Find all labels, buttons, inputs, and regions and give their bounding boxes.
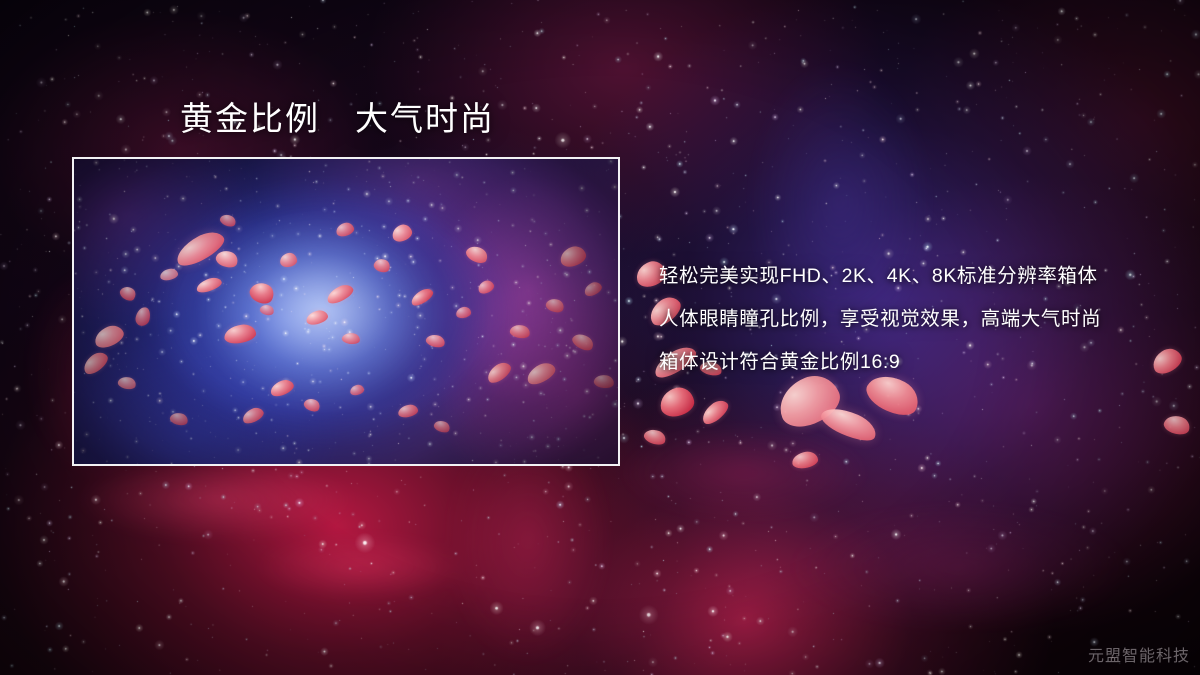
- page-title: 黄金比例 大气时尚: [180, 101, 495, 138]
- presentation-slide: 黄金比例 大气时尚 轻松完美实现FHD、2K、4K、8K标准分辨率箱体 人体眼睛…: [0, 0, 1200, 675]
- description-line-3: 箱体设计符合黄金比例16:9: [659, 341, 1179, 384]
- photo-image: [74, 159, 618, 464]
- rose-petal: [698, 396, 731, 427]
- rose-petal: [657, 385, 696, 419]
- description-line-1: 轻松完美实现FHD、2K、4K、8K标准分辨率箱体: [659, 255, 1179, 298]
- description-block: 轻松完美实现FHD、2K、4K、8K标准分辨率箱体 人体眼睛瞳孔比例，享受视觉效…: [659, 255, 1179, 384]
- rose-petal: [791, 450, 819, 469]
- rose-petal: [642, 427, 667, 448]
- rose-petal: [818, 401, 881, 447]
- watermark-text: 元盟智能科技: [1088, 642, 1190, 666]
- photo-vignette: [74, 159, 618, 464]
- rose-petal: [1162, 412, 1192, 437]
- photo-frame: [72, 157, 620, 466]
- description-line-2: 人体眼睛瞳孔比例，享受视觉效果，高端大气时尚: [659, 298, 1179, 341]
